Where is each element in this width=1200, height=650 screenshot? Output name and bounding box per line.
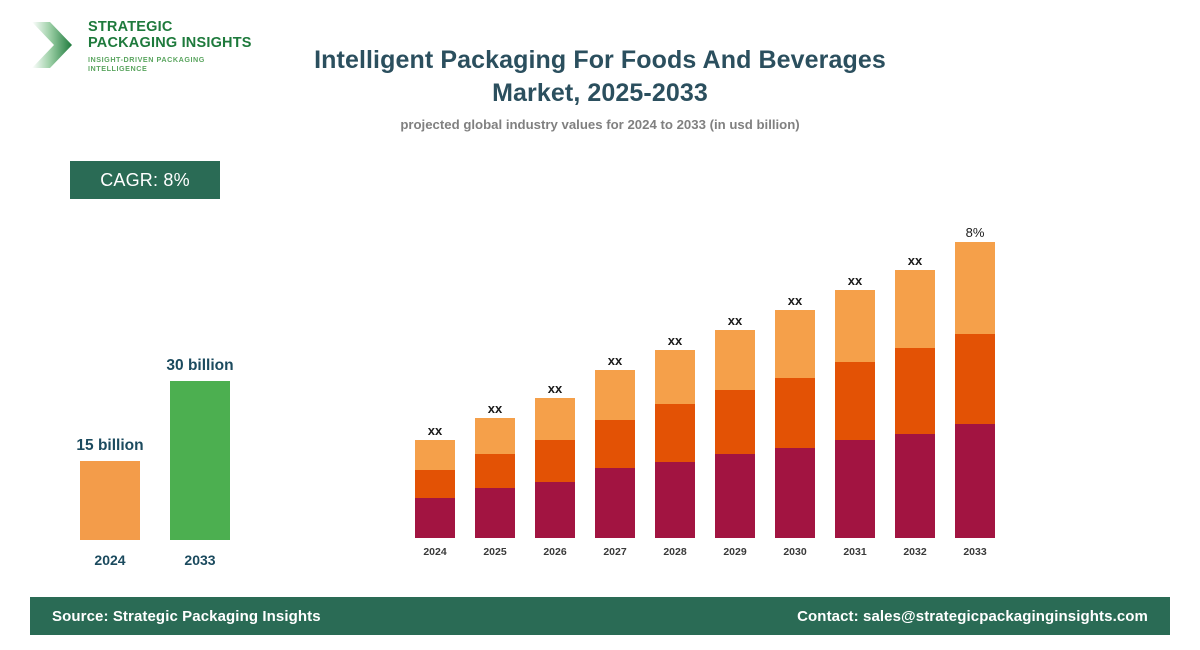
- forecast-bar-segment-top: [955, 242, 995, 334]
- forecast-bar-segment-middle: [415, 470, 455, 498]
- forecast-bar-value-label: xx: [455, 401, 535, 416]
- forecast-bar-segment-middle: [895, 348, 935, 434]
- brand-line-2: PACKAGING INSIGHTS: [88, 36, 260, 52]
- forecast-bar-segment-bottom: [535, 482, 575, 538]
- summary-bar-category-label: 2033: [170, 552, 230, 568]
- summary-bar-value-label: 30 billion: [130, 357, 270, 375]
- forecast-bar-segment-middle: [715, 390, 755, 454]
- forecast-bar-value-label: xx: [875, 253, 955, 268]
- forecast-bar-segment-bottom: [835, 440, 875, 538]
- forecast-stacked-bar: [775, 310, 815, 538]
- forecast-bar-category-label: 2026: [525, 546, 585, 558]
- forecast-bar-segment-top: [595, 370, 635, 420]
- forecast-stacked-bar: [835, 290, 875, 538]
- footer-contact[interactable]: Contact: sales@strategicpackaginginsight…: [797, 608, 1148, 625]
- page-title: Intelligent Packaging For Foods And Beve…: [300, 44, 900, 110]
- footer-bar: Source: Strategic Packaging Insights Con…: [30, 597, 1170, 635]
- forecast-stacked-bar: [895, 270, 935, 538]
- forecast-bar-group: xx2024: [415, 195, 455, 560]
- forecast-bar-segment-bottom: [895, 434, 935, 538]
- forecast-bar-segment-bottom: [775, 448, 815, 538]
- summary-bar-chart: 15 billion202430 billion2033: [60, 300, 260, 570]
- forecast-bar-group: xx2031: [835, 195, 875, 560]
- forecast-bar-segment-bottom: [655, 462, 695, 538]
- forecast-bar-value-label: xx: [815, 273, 895, 288]
- forecast-bar-segment-top: [475, 418, 515, 454]
- forecast-bar-segment-top: [775, 310, 815, 378]
- forecast-bar-segment-middle: [535, 440, 575, 482]
- forecast-bar-value-label: xx: [515, 381, 595, 396]
- forecast-bar-category-label: 2028: [645, 546, 705, 558]
- forecast-bar-category-label: 2024: [405, 546, 465, 558]
- forecast-bar-segment-middle: [595, 420, 635, 468]
- forecast-bar-group: xx2029: [715, 195, 755, 560]
- forecast-bar-category-label: 2032: [885, 546, 945, 558]
- infographic-canvas: STRATEGIC PACKAGING INSIGHTS INSIGHT-DRI…: [0, 0, 1200, 650]
- forecast-bar-value-label: xx: [755, 293, 835, 308]
- cagr-badge: CAGR: 8%: [70, 161, 220, 199]
- forecast-bar-group: xx2030: [775, 195, 815, 560]
- brand-wordmark: STRATEGIC PACKAGING INSIGHTS INSIGHT-DRI…: [88, 20, 260, 73]
- forecast-bar-segment-bottom: [595, 468, 635, 538]
- forecast-bar-segment-top: [655, 350, 695, 404]
- footer-source: Source: Strategic Packaging Insights: [52, 608, 321, 625]
- summary-bar: [170, 381, 230, 540]
- forecast-bar-value-label: xx: [635, 333, 715, 348]
- brand-logo: STRATEGIC PACKAGING INSIGHTS INSIGHT-DRI…: [30, 14, 260, 80]
- forecast-bar-group: xx2027: [595, 195, 635, 560]
- forecast-bar-category-label: 2033: [945, 546, 1005, 558]
- forecast-stacked-bar: [475, 418, 515, 538]
- forecast-bar-segment-bottom: [415, 498, 455, 538]
- forecast-bar-value-label: 8%: [935, 225, 1015, 240]
- forecast-bar-value-label: xx: [695, 313, 775, 328]
- summary-bar-category-label: 2024: [80, 552, 140, 568]
- forecast-bar-segment-bottom: [475, 488, 515, 538]
- forecast-bar-segment-middle: [775, 378, 815, 448]
- summary-bar-value-label: 15 billion: [40, 437, 180, 455]
- brand-tagline: INSIGHT-DRIVEN PACKAGING INTELLIGENCE: [88, 55, 260, 73]
- forecast-stacked-bar: [535, 398, 575, 538]
- summary-bar-group: 15 billion: [80, 360, 140, 540]
- forecast-bar-segment-top: [895, 270, 935, 348]
- summary-bar-group: 30 billion: [170, 360, 230, 540]
- forecast-stacked-bar: [655, 350, 695, 538]
- forecast-bar-segment-middle: [475, 454, 515, 488]
- forecast-bar-group: xx2028: [655, 195, 695, 560]
- forecast-bar-segment-middle: [655, 404, 695, 462]
- forecast-bar-segment-middle: [955, 334, 995, 424]
- forecast-bar-category-label: 2027: [585, 546, 645, 558]
- forecast-bar-segment-bottom: [955, 424, 995, 538]
- brand-line-1: STRATEGIC: [88, 20, 260, 36]
- forecast-bar-segment-top: [715, 330, 755, 390]
- forecast-bar-group: xx2025: [475, 195, 515, 560]
- forecast-bar-group: xx2026: [535, 195, 575, 560]
- forecast-bar-group: xx2032: [895, 195, 935, 560]
- forecast-bar-segment-top: [415, 440, 455, 470]
- forecast-stacked-bar-chart: xx2024xx2025xx2026xx2027xx2028xx2029xx20…: [405, 195, 1015, 560]
- forecast-stacked-bar: [715, 330, 755, 538]
- forecast-stacked-bar: [595, 370, 635, 538]
- forecast-bar-category-label: 2025: [465, 546, 525, 558]
- forecast-bar-category-label: 2029: [705, 546, 765, 558]
- summary-bar: [80, 461, 140, 540]
- forecast-bar-value-label: xx: [575, 353, 655, 368]
- chevron-right-icon: [30, 20, 76, 70]
- forecast-stacked-bar: [415, 440, 455, 538]
- page-subtitle: projected global industry values for 202…: [300, 116, 900, 133]
- forecast-stacked-bar: [955, 242, 995, 538]
- forecast-bar-segment-top: [535, 398, 575, 440]
- forecast-bar-segment-bottom: [715, 454, 755, 538]
- forecast-bar-category-label: 2030: [765, 546, 825, 558]
- forecast-bar-category-label: 2031: [825, 546, 885, 558]
- forecast-bar-segment-top: [835, 290, 875, 362]
- forecast-bar-value-label: xx: [395, 423, 475, 438]
- forecast-bar-group: 8%2033: [955, 195, 995, 560]
- forecast-bar-segment-middle: [835, 362, 875, 440]
